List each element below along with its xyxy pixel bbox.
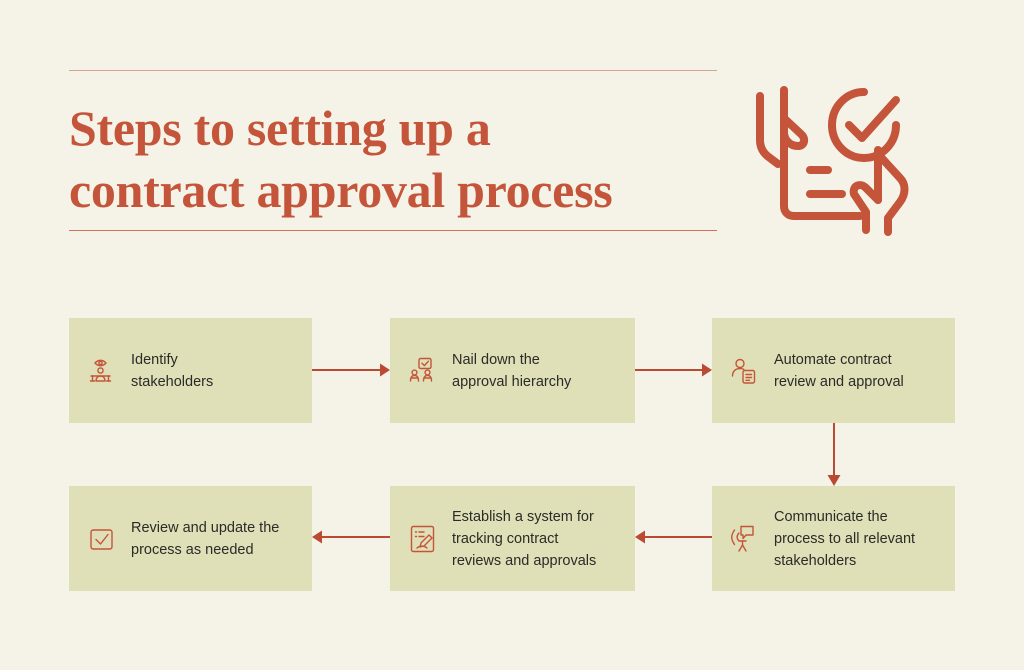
flow-step-6-label: Review and update the process as needed xyxy=(131,517,279,561)
people-with-checkbox-hierarchy-icon xyxy=(408,356,438,386)
checkbox-check-icon xyxy=(87,524,117,554)
arrow-step4-to-step5 xyxy=(635,525,712,549)
flow-step-1-label: Identify stakeholders xyxy=(131,349,213,393)
flow-step-2-label: Nail down the approval hierarchy xyxy=(452,349,571,393)
arrow-step2-to-step3 xyxy=(635,358,712,382)
process-flow: Identify stakeholders Nail down the appr… xyxy=(0,0,1024,670)
flow-step-1[interactable]: Identify stakeholders xyxy=(69,318,312,423)
flow-step-5-label: Establish a system for tracking contract… xyxy=(452,506,596,572)
flow-step-3[interactable]: Automate contract review and approval xyxy=(712,318,955,423)
flow-step-3-label: Automate contract review and approval xyxy=(774,349,904,393)
document-with-pen-tracking-icon xyxy=(408,524,438,554)
arrow-step5-to-step6 xyxy=(312,525,390,549)
stakeholders-eye-people-icon xyxy=(87,356,117,386)
person-with-document-icon xyxy=(730,356,760,386)
person-with-speech-bubble-icon xyxy=(730,524,760,554)
flow-step-4[interactable]: Communicate the process to all relevant … xyxy=(712,486,955,591)
arrow-step1-to-step2 xyxy=(312,358,390,382)
flow-step-6[interactable]: Review and update the process as needed xyxy=(69,486,312,591)
flow-step-5[interactable]: Establish a system for tracking contract… xyxy=(390,486,635,591)
flow-step-2[interactable]: Nail down the approval hierarchy xyxy=(390,318,635,423)
flow-step-4-label: Communicate the process to all relevant … xyxy=(774,506,915,572)
arrow-step3-to-step4 xyxy=(822,423,846,486)
